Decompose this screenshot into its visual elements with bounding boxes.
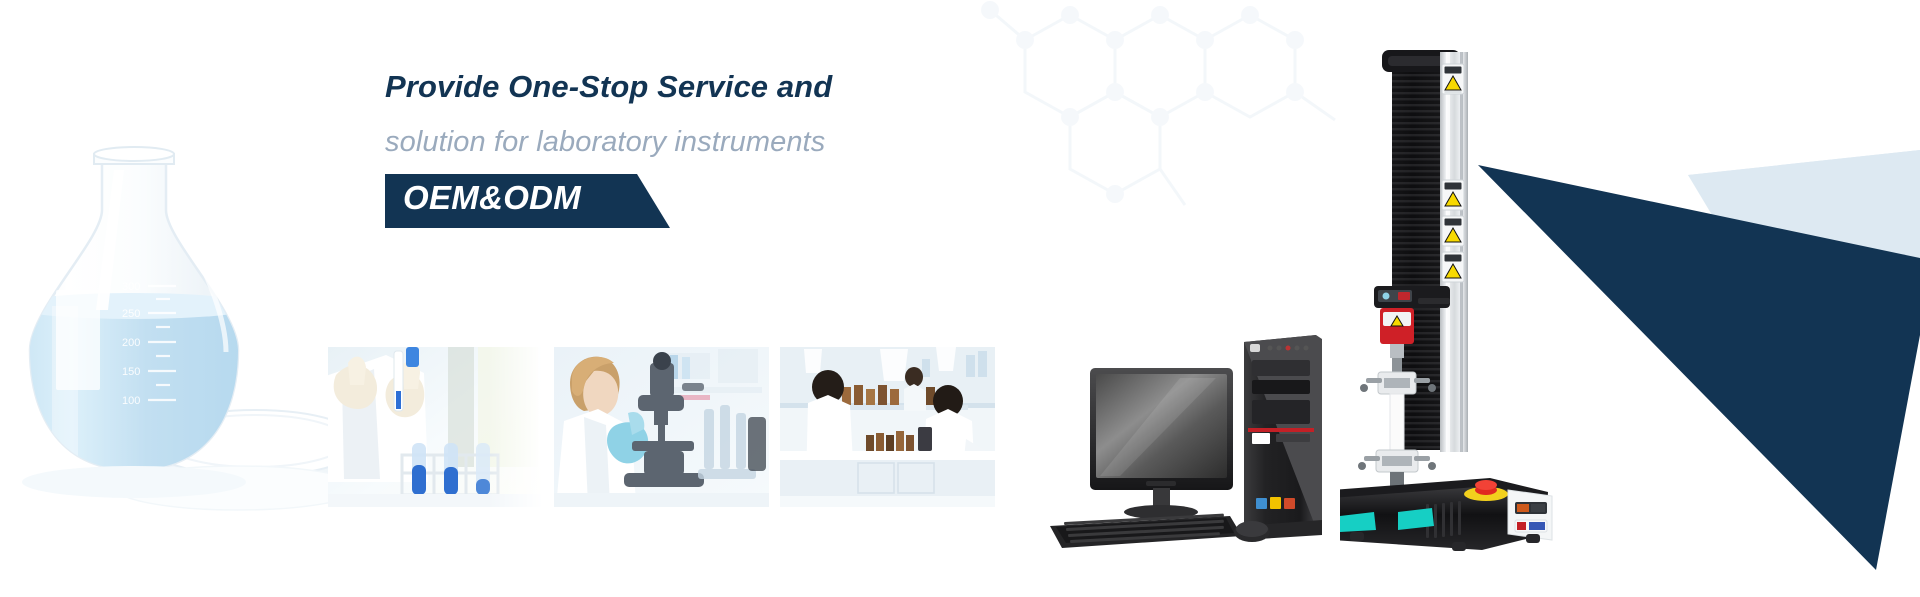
- keyboard: [1050, 514, 1242, 548]
- headline-line-1: Provide One-Stop Service and: [385, 68, 1025, 107]
- base-console: [1340, 478, 1552, 551]
- lab-photo-strip: [328, 347, 995, 507]
- oem-odm-badge-label: OEM&ODM: [403, 179, 581, 217]
- universal-tensile-testing-machine: [1340, 20, 1555, 560]
- wedge-light-2: [1688, 150, 1920, 320]
- crosshead: [1374, 286, 1450, 308]
- hero-banner: 300 250 200 150 100 Provide One-Stop Ser: [0, 0, 1920, 597]
- svg-text:250: 250: [122, 308, 140, 320]
- oem-odm-badge: OEM&ODM: [385, 174, 670, 228]
- test-specimen: [1390, 394, 1404, 450]
- mouse: [1234, 521, 1270, 542]
- headline-block: Provide One-Stop Service and solution fo…: [385, 68, 1025, 228]
- monitor: [1090, 368, 1233, 519]
- svg-text:300: 300: [122, 281, 140, 293]
- svg-text:200: 200: [122, 337, 140, 349]
- photo-microscope-researcher: [554, 347, 769, 507]
- svg-text:100: 100: [122, 395, 140, 407]
- photo-pipetting-test-tubes: [328, 347, 543, 507]
- photo-laboratory-workers: [780, 347, 995, 507]
- tower-case: [1242, 335, 1322, 540]
- svg-text:150: 150: [122, 366, 140, 378]
- headline-line-2: solution for laboratory instruments: [385, 124, 1025, 160]
- wedge-light: [1688, 150, 1920, 320]
- desktop-computer-set: [1030, 330, 1360, 565]
